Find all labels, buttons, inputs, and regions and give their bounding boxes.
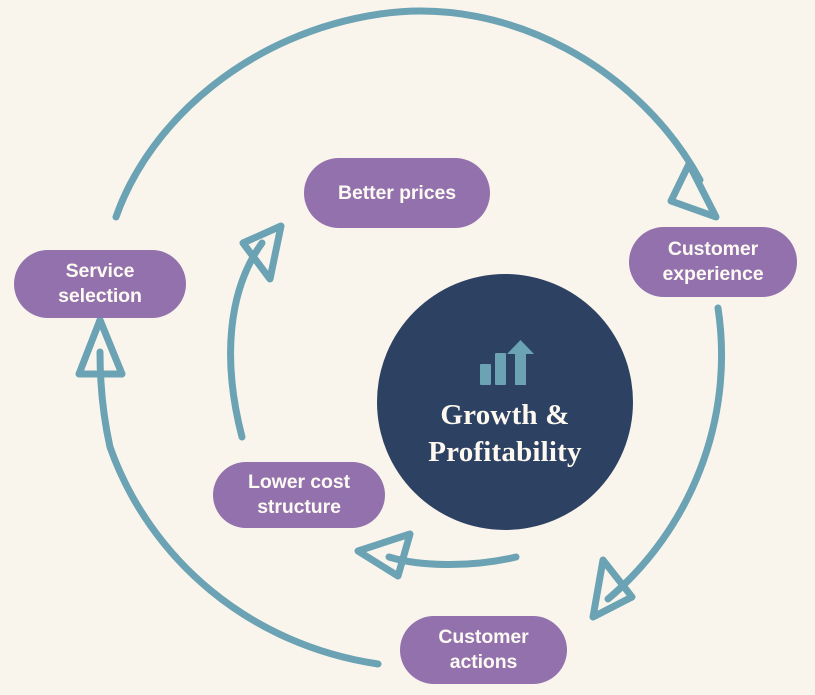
inner-arc-hub-to-lower-cost-arrowhead (358, 534, 410, 576)
node-service-selection[interactable]: Service selection (14, 250, 186, 318)
diagram-canvas: Growth & Profitability Better prices Cus… (0, 0, 815, 695)
outer-arc-service-to-customer-experience-arrowhead (671, 164, 716, 217)
inner-arc-lower-cost-to-better-prices-path (231, 243, 262, 437)
hub-growth-profitability: Growth & Profitability (377, 274, 633, 530)
node-customer-experience[interactable]: Customer experience (629, 227, 797, 297)
bar-chart-growth-arrow-icon (476, 339, 534, 387)
node-customer-actions[interactable]: Customer actions (400, 616, 567, 684)
outer-arc-customer-experience-to-actions-arrowhead (593, 560, 632, 617)
inner-arc-hub-to-lower-cost-path (389, 557, 516, 565)
hub-title: Growth & Profitability (377, 397, 633, 471)
node-better-prices[interactable]: Better prices (304, 158, 490, 228)
node-lower-cost-structure[interactable]: Lower cost structure (213, 462, 385, 528)
